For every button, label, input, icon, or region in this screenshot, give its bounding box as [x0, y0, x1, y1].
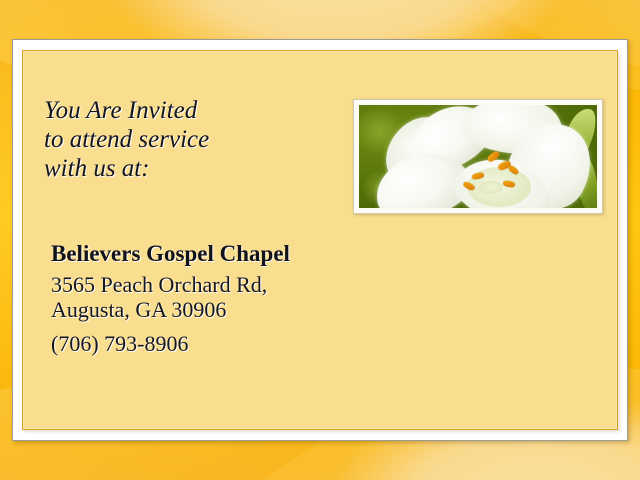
invitation-line-3: with us at:: [44, 154, 344, 183]
church-details-block: Believers Gospel Chapel 3565 Peach Orcha…: [51, 240, 381, 357]
lily-pistil: [479, 181, 503, 194]
invitation-line-2: to attend service: [44, 125, 344, 154]
church-phone-number: (706) 793-8906: [51, 331, 381, 357]
church-address-line-1: 3565 Peach Orchard Rd,: [51, 272, 381, 297]
church-name: Believers Gospel Chapel: [51, 240, 381, 268]
church-address: 3565 Peach Orchard Rd, Augusta, GA 30906: [51, 272, 381, 322]
invitation-line-1: You Are Invited: [44, 96, 344, 125]
photo-frame: [353, 99, 603, 214]
invitation-slide: You Are Invited to attend service with u…: [0, 0, 640, 480]
lily-photo: [359, 105, 597, 208]
church-address-line-2: Augusta, GA 30906: [51, 297, 381, 322]
invitation-text-block: You Are Invited to attend service with u…: [44, 96, 344, 183]
